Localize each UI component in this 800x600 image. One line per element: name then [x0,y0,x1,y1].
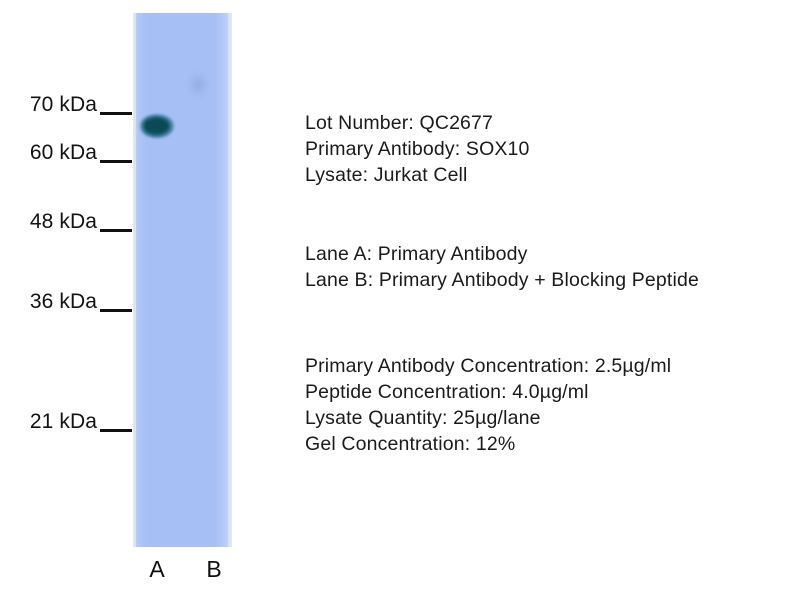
condition-lysate-quantity: Lysate Quantity: 25µg/lane [305,405,671,431]
lane-label-b: B [201,556,227,583]
ladder-label-36: 36 kDa [30,291,97,312]
sample-info-block: Lot Number: QC2677 Primary Antibody: SOX… [305,110,530,188]
ladder-marker-36: 36 kDa [0,286,132,316]
condition-primary-antibody-concentration: Primary Antibody Concentration: 2.5µg/ml [305,353,671,379]
sample-info-line-primary-antibody: Primary Antibody: SOX10 [305,136,530,162]
faint-smudge-lane-b [188,72,208,98]
protein-band-core-lane-a [144,118,169,133]
membrane-sheen [133,13,232,547]
sample-info-line-lysate: Lysate: Jurkat Cell [305,162,530,188]
conditions-block: Primary Antibody Concentration: 2.5µg/ml… [305,353,671,457]
ladder-marker-21: 21 kDa [0,406,132,436]
ladder-tick-60 [100,160,132,163]
ladder-label-21: 21 kDa [30,411,97,432]
ladder-tick-21 [100,429,132,432]
condition-gel-concentration: Gel Concentration: 12% [305,431,671,457]
condition-peptide-concentration: Peptide Concentration: 4.0µg/ml [305,379,671,405]
ladder-tick-48 [100,229,132,232]
ladder-tick-36 [100,309,132,312]
ladder-label-48: 48 kDa [30,211,97,232]
ladder-marker-70: 70 kDa [0,89,132,119]
sample-info-line-lot: Lot Number: QC2677 [305,110,530,136]
ladder-label-60: 60 kDa [30,142,97,163]
lane-info-block: Lane A: Primary Antibody Lane B: Primary… [305,241,699,293]
lane-info-line-b: Lane B: Primary Antibody + Blocking Pept… [305,267,699,293]
ladder-marker-48: 48 kDa [0,206,132,236]
ladder-label-70: 70 kDa [30,94,97,115]
blot-membrane [133,13,232,547]
lane-info-line-a: Lane A: Primary Antibody [305,241,699,267]
ladder-tick-70 [100,112,132,115]
ladder-marker-60: 60 kDa [0,137,132,167]
western-blot-figure: 70 kDa 60 kDa 48 kDa 36 kDa 21 kDa A B L… [0,0,800,600]
lane-label-a: A [144,556,170,583]
